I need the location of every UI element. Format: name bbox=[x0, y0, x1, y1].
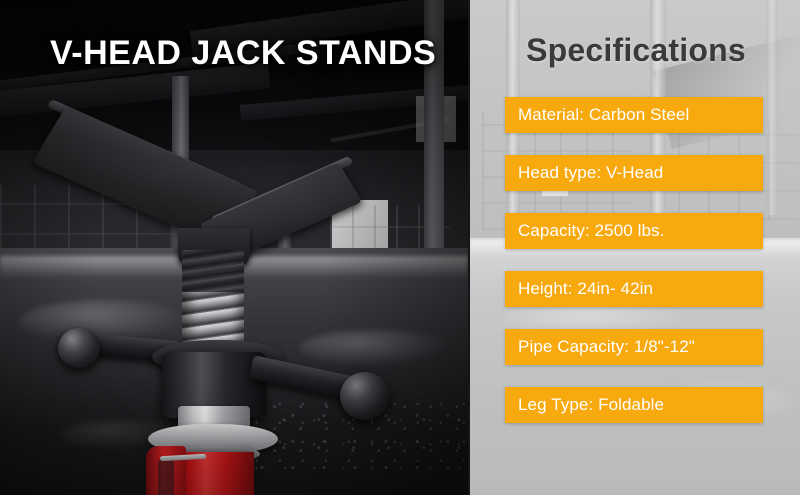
spec-text: Height: 24in- 42in bbox=[518, 279, 653, 299]
v-head-jack-stand bbox=[0, 0, 468, 495]
threaded-screw-shaft-upper bbox=[182, 250, 244, 292]
ball-knob-right bbox=[340, 372, 390, 420]
spec-text: Pipe Capacity: 1/8"-12" bbox=[518, 337, 695, 357]
spec-row-head-type: Head type: V-Head bbox=[505, 155, 763, 191]
spec-row-height: Height: 24in- 42in bbox=[505, 271, 763, 307]
page-title: V-HEAD JACK STANDS bbox=[50, 34, 436, 73]
spec-text: Capacity: 2500 lbs. bbox=[518, 221, 664, 241]
spec-row-capacity: Capacity: 2500 lbs. bbox=[505, 213, 763, 249]
ball-knob-left bbox=[58, 328, 100, 368]
spec-text: Material: Carbon Steel bbox=[518, 105, 689, 125]
spec-text: Head type: V-Head bbox=[518, 163, 663, 183]
spec-row-leg-type: Leg Type: Foldable bbox=[505, 387, 763, 423]
product-infographic-banner: V-HEAD JACK STANDS Specifications Materi… bbox=[0, 0, 800, 495]
red-bracket-slot bbox=[158, 458, 174, 495]
specifications-list: Material: Carbon Steel Head type: V-Head… bbox=[505, 97, 763, 423]
spec-row-pipe-capacity: Pipe Capacity: 1/8"-12" bbox=[505, 329, 763, 365]
specifications-heading: Specifications bbox=[470, 32, 800, 69]
spec-row-material: Material: Carbon Steel bbox=[505, 97, 763, 133]
spec-text: Leg Type: Foldable bbox=[518, 395, 664, 415]
specifications-panel: Specifications Material: Carbon Steel He… bbox=[468, 0, 800, 495]
product-photo-panel: V-HEAD JACK STANDS bbox=[0, 0, 468, 495]
